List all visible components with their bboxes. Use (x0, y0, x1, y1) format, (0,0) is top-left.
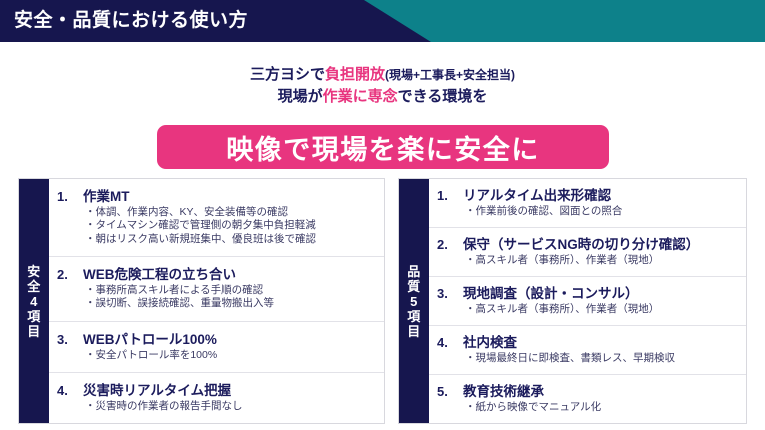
list-item-number: 4. (57, 382, 83, 399)
panel-tab-char: 項 (27, 309, 41, 324)
subtitle-line-2: 現場が作業に専念できる環境を (0, 86, 765, 107)
safety-panel-tab: 安全4項目 (19, 179, 49, 423)
quality-panel-tab: 品質5項目 (399, 179, 429, 423)
bullet-text: ・現場最終日に即検査、書類レス、早期検収 (465, 352, 740, 366)
panel-tab-char: 安 (27, 264, 41, 279)
safety-panel-body: 1.作業MT・体調、作業内容、KY、安全装備等の確認・タイムマシン確認で管理側の… (49, 179, 384, 423)
list-item-title: 災害時リアルタイム把握 (83, 382, 231, 399)
panel-tab-char: 質 (407, 279, 421, 294)
bullet-text: ・高スキル者（事務所）、作業者（現地） (465, 254, 740, 268)
list-item-bullets: ・作業前後の確認、図面との照合 (465, 205, 740, 219)
quality-panel-body: 1.リアルタイム出来形確認・作業前後の確認、図面との照合2.保守（サービスNG時… (429, 179, 746, 423)
highlight-banner: 映像で現場を楽に安全に (157, 125, 609, 169)
list-item-heading: 3.現地調査（設計・コンサル） (437, 285, 740, 302)
list-item-number: 2. (437, 236, 463, 253)
list-item-title: リアルタイム出来形確認 (463, 187, 611, 204)
list-item-heading: 5.教育技術継承 (437, 383, 740, 400)
panel-tab-char: 項 (407, 309, 421, 324)
bullet-text: ・高スキル者（事務所）、作業者（現地） (465, 303, 740, 317)
list-item-title: 作業MT (83, 188, 130, 205)
list-item-bullets: ・事務所高スキル者による手順の確認・誤切断、誤接続確認、重量物搬出入等 (85, 284, 378, 311)
safety-panel: 安全4項目 1.作業MT・体調、作業内容、KY、安全装備等の確認・タイムマシン確… (18, 178, 385, 424)
list-item-number: 3. (57, 331, 83, 348)
page-title: 安全・品質における使い方 (14, 0, 248, 42)
subtitle-line-1: 三方ヨシで負担開放(現場+工事長+安全担当) (0, 64, 765, 86)
list-item-bullets: ・高スキル者（事務所）、作業者（現地） (465, 254, 740, 268)
panel-tab-char: 目 (27, 324, 41, 339)
list-item-number: 5. (437, 383, 463, 400)
slide-header: 安全・品質における使い方 (0, 0, 765, 42)
list-item[interactable]: 5.教育技術継承・紙から映像でマニュアル化 (429, 375, 746, 423)
list-item-heading: 4.災害時リアルタイム把握 (57, 382, 378, 399)
subtitle-block: 三方ヨシで負担開放(現場+工事長+安全担当) 現場が作業に専念できる環境を (0, 64, 765, 107)
list-item[interactable]: 1.作業MT・体調、作業内容、KY、安全装備等の確認・タイムマシン確認で管理側の… (49, 179, 384, 257)
subtitle-line1-part2: (現場+工事長+安全担当) (385, 68, 515, 82)
list-item[interactable]: 3.現地調査（設計・コンサル）・高スキル者（事務所）、作業者（現地） (429, 277, 746, 326)
list-item-title: 社内検査 (463, 334, 517, 351)
subtitle-line2-highlight: 作業に専念 (323, 88, 398, 105)
list-item-title: 現地調査（設計・コンサル） (463, 285, 639, 302)
list-item-bullets: ・高スキル者（事務所）、作業者（現地） (465, 303, 740, 317)
list-item-title: WEBパトロール100% (83, 331, 217, 348)
list-item[interactable]: 2.保守（サービスNG時の切り分け確認）・高スキル者（事務所）、作業者（現地） (429, 228, 746, 277)
bullet-text: ・体調、作業内容、KY、安全装備等の確認 (85, 206, 378, 220)
subtitle-line2-part1: 現場が (278, 88, 323, 105)
list-item-heading: 2.WEB危険工程の立ち合い (57, 266, 378, 283)
panel-tab-char: 4 (30, 294, 38, 309)
bullet-text: ・誤切断、誤接続確認、重量物搬出入等 (85, 297, 378, 311)
list-item-heading: 4.社内検査 (437, 334, 740, 351)
bullet-text: ・タイムマシン確認で管理側の朝夕集中負担軽減 (85, 219, 378, 233)
subtitle-line2-part2: できる環境を (398, 88, 488, 105)
bullet-text: ・紙から映像でマニュアル化 (465, 401, 740, 415)
list-item-bullets: ・現場最終日に即検査、書類レス、早期検収 (465, 352, 740, 366)
list-item[interactable]: 3.WEBパトロール100%・安全パトロール率を100% (49, 322, 384, 373)
list-item-number: 4. (437, 334, 463, 351)
list-item-title: WEB危険工程の立ち合い (83, 266, 236, 283)
list-item-number: 1. (57, 188, 83, 205)
list-item-number: 2. (57, 266, 83, 283)
list-item-number: 3. (437, 285, 463, 302)
panel-tab-char: 品 (407, 264, 421, 279)
slide-root: 安全・品質における使い方 三方ヨシで負担開放(現場+工事長+安全担当) 現場が作… (0, 0, 765, 430)
list-item[interactable]: 4.社内検査・現場最終日に即検査、書類レス、早期検収 (429, 326, 746, 375)
list-item-number: 1. (437, 187, 463, 204)
list-item-bullets: ・体調、作業内容、KY、安全装備等の確認・タイムマシン確認で管理側の朝夕集中負担… (85, 206, 378, 247)
list-item-bullets: ・安全パトロール率を100% (85, 349, 378, 363)
highlight-banner-text: 映像で現場を楽に安全に (226, 128, 540, 167)
list-item[interactable]: 2.WEB危険工程の立ち合い・事務所高スキル者による手順の確認・誤切断、誤接続確… (49, 257, 384, 322)
quality-panel: 品質5項目 1.リアルタイム出来形確認・作業前後の確認、図面との照合2.保守（サ… (398, 178, 747, 424)
subtitle-line1-highlight: 負担開放 (325, 66, 385, 83)
panel-tab-char: 5 (410, 294, 418, 309)
bullet-text: ・安全パトロール率を100% (85, 349, 378, 363)
list-item-heading: 2.保守（サービスNG時の切り分け確認） (437, 236, 740, 253)
panel-tab-char: 全 (27, 279, 41, 294)
bullet-text: ・事務所高スキル者による手順の確認 (85, 284, 378, 298)
list-item[interactable]: 4.災害時リアルタイム把握・災害時の作業者の報告手間なし (49, 373, 384, 423)
list-item-title: 保守（サービスNG時の切り分け確認） (463, 236, 699, 253)
bullet-text: ・朝はリスク高い新規班集中、優良班は後で確認 (85, 233, 378, 247)
bullet-text: ・災害時の作業者の報告手間なし (85, 400, 378, 414)
subtitle-line1-part1: 三方ヨシで (250, 66, 325, 83)
list-item-heading: 1.作業MT (57, 188, 378, 205)
list-item-bullets: ・紙から映像でマニュアル化 (465, 401, 740, 415)
list-item-heading: 3.WEBパトロール100% (57, 331, 378, 348)
bullet-text: ・作業前後の確認、図面との照合 (465, 205, 740, 219)
list-item[interactable]: 1.リアルタイム出来形確認・作業前後の確認、図面との照合 (429, 179, 746, 228)
panel-tab-char: 目 (407, 324, 421, 339)
list-item-heading: 1.リアルタイム出来形確認 (437, 187, 740, 204)
list-item-title: 教育技術継承 (463, 383, 544, 400)
list-item-bullets: ・災害時の作業者の報告手間なし (85, 400, 378, 414)
